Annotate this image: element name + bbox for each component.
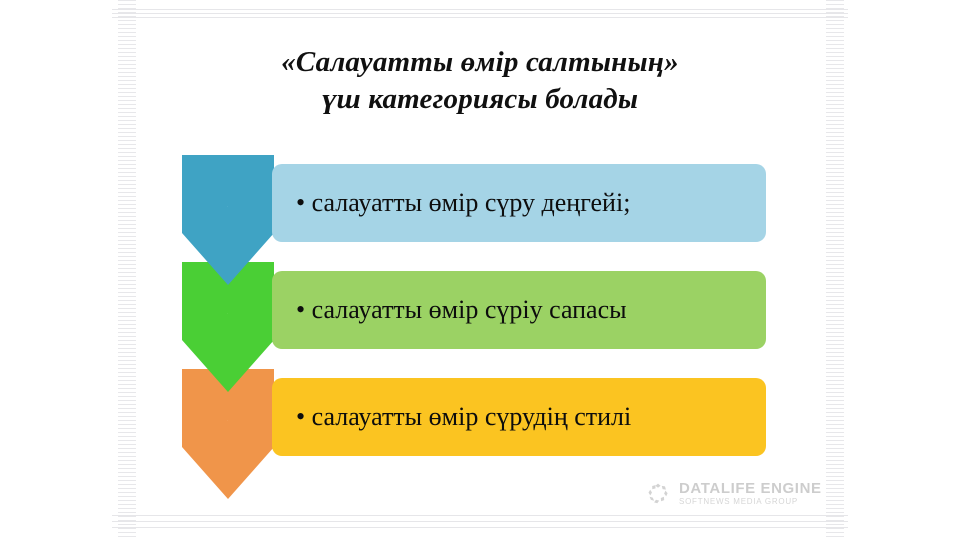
category-label: • салауатты өмір сүру деңгейі; bbox=[296, 187, 630, 219]
frame-rule-top bbox=[112, 13, 848, 14]
category-box[interactable]: • салауатты өмір сүру деңгейі; bbox=[272, 164, 766, 242]
frame-rule-bottom bbox=[112, 527, 848, 528]
category-row[interactable]: • салауатты өмір сүру деңгейі; bbox=[182, 155, 766, 285]
category-label: • салауатты өмір сүріу сапасы bbox=[296, 294, 627, 326]
category-label: • салауатты өмір сүрудің стилі bbox=[296, 401, 631, 433]
slide-title-line-1: «Салауатты өмір салтының» bbox=[120, 44, 840, 81]
slide-title: «Салауатты өмір салтының» үш категориясы… bbox=[120, 44, 840, 118]
chevron-arrow-icon bbox=[182, 155, 274, 285]
slide-canvas: «Салауатты өмір салтының» үш категориясы… bbox=[0, 0, 960, 540]
frame-rule-top bbox=[112, 17, 848, 18]
frame-rule-bottom bbox=[112, 515, 848, 516]
frame-rule-bottom bbox=[112, 521, 848, 522]
slide-title-line-2: үш категориясы болады bbox=[120, 81, 840, 118]
watermark-subtitle: SOFTNEWS MEDIA GROUP bbox=[679, 498, 822, 506]
frame-rule-top bbox=[112, 9, 848, 10]
